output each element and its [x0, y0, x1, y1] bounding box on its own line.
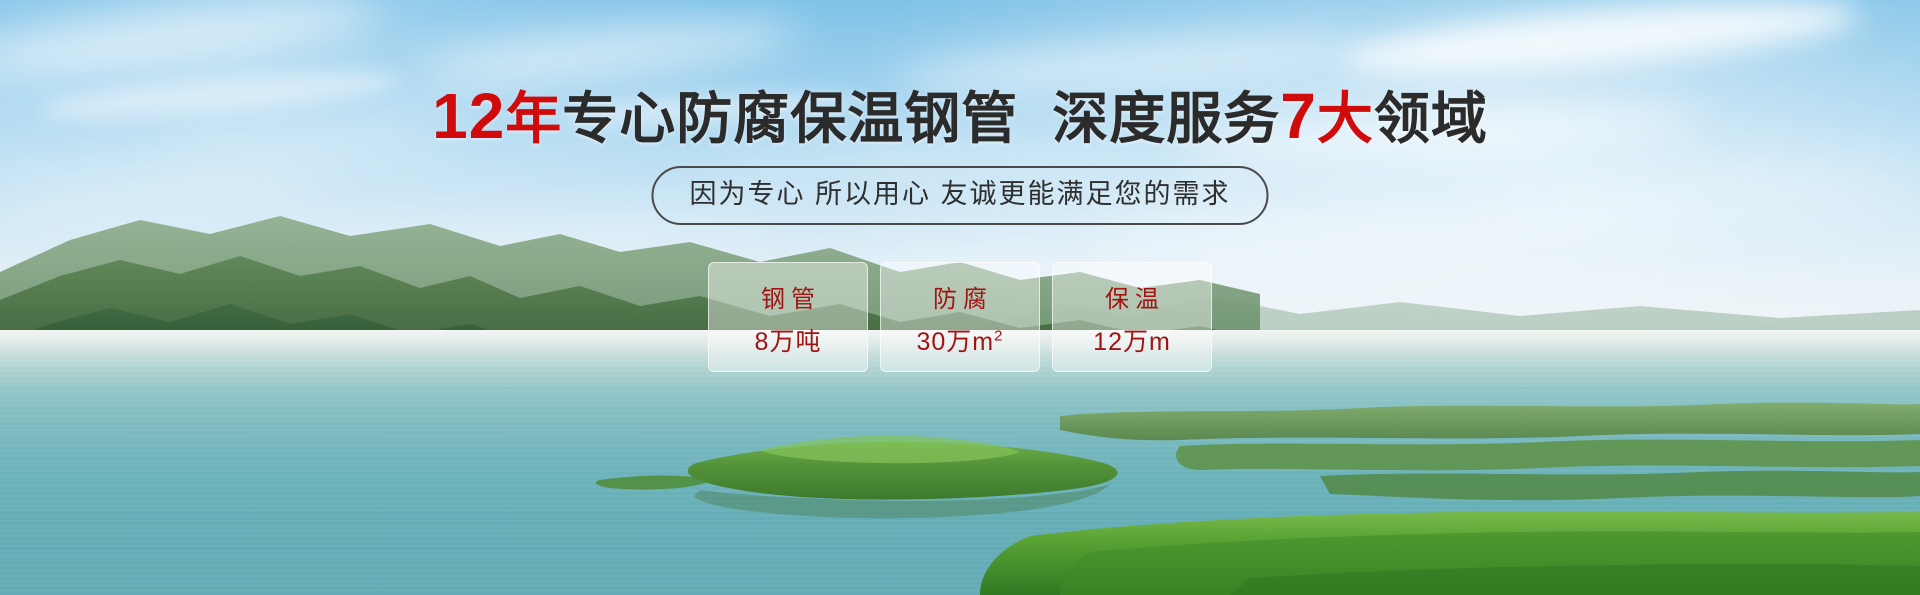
stat-value: 12万m: [1093, 327, 1171, 357]
headline-fields-number: 7: [1280, 80, 1317, 152]
stat-card-anticorrosion: 防腐 30万m2: [880, 262, 1040, 372]
banner-content: 12年专心防腐保温钢管深度服务7大领域 因为专心 所以用心 友诚更能满足您的需求…: [0, 0, 1920, 595]
stats-row: 钢管 8万吨 防腐 30万m2 保温 12万m: [708, 262, 1212, 372]
stat-card-steel-pipe: 钢管 8万吨: [708, 262, 868, 372]
stat-label: 钢管: [755, 283, 821, 317]
subtitle-pill: 因为专心 所以用心 友诚更能满足您的需求: [651, 166, 1268, 225]
hero-banner: 12年专心防腐保温钢管深度服务7大领域 因为专心 所以用心 友诚更能满足您的需求…: [0, 0, 1920, 595]
headline: 12年专心防腐保温钢管深度服务7大领域: [0, 84, 1920, 151]
stat-value-base: 30万m: [917, 328, 995, 356]
headline-fields-word: 领域: [1374, 87, 1488, 150]
stat-value-base: 12万m: [1093, 328, 1171, 356]
headline-fields-unit: 大: [1317, 87, 1374, 150]
stat-label: 防腐: [927, 283, 993, 317]
stat-label: 保温: [1099, 283, 1165, 317]
headline-service-phrase: 深度服务: [1052, 87, 1280, 150]
stat-value: 30万m2: [917, 327, 1004, 357]
stat-card-insulation: 保温 12万m: [1052, 262, 1212, 372]
headline-years-unit: 年: [505, 87, 562, 150]
headline-years-number: 12: [432, 80, 505, 152]
stat-value-base: 8万吨: [755, 328, 822, 356]
headline-main-phrase: 专心防腐保温钢管: [562, 87, 1018, 150]
stat-value: 8万吨: [755, 327, 822, 357]
stat-value-superscript: 2: [994, 328, 1003, 345]
